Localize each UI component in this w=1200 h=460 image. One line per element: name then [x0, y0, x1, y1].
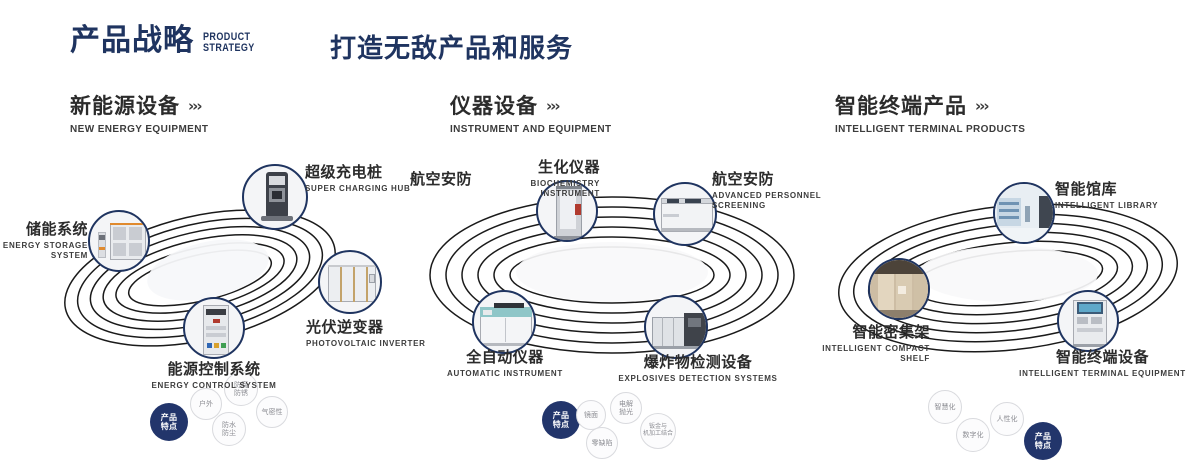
label-energy-control-system: 能源控制系统 ENERGY CONTROL SYSTEM [84, 362, 344, 391]
section-title-en: INTELLIGENT TERMINAL PRODUCTS [835, 124, 1025, 135]
section-title-cn-text: 新能源设备 [70, 94, 180, 118]
page-title-cn: 产品战略 [70, 26, 194, 56]
diagram-new-energy: 产品 特点 户外 防腐 防锈 防水 防尘 气密性 [0, 150, 400, 420]
chevron-right-icon: ››› [975, 99, 988, 114]
feature-line1: 防水 [222, 421, 236, 429]
feature-bubble: 防水 防尘 [212, 412, 246, 446]
label-en-line1: INTELLIGENT TERMINAL EQUIPMENT [1005, 369, 1200, 379]
control-system-photo [185, 299, 243, 357]
label-cn: 储能系统 [0, 222, 88, 238]
feature-line1: 气密性 [262, 408, 283, 416]
feature-line1: 电解 [619, 400, 633, 408]
node-energy-storage[interactable] [88, 210, 150, 272]
core-badge-line1: 产品 [1035, 432, 1052, 441]
section-title-intelligent-terminal: 智能终端产品››› INTELLIGENT TERMINAL PRODUCTS [835, 96, 1025, 135]
feature-bubble: 气密性 [256, 396, 288, 428]
label-en: ENERGY STORAGE SYSTEM [0, 241, 88, 261]
label-en: ENERGY CONTROL SYSTEM [84, 381, 344, 391]
feature-bubble: 零缺陷 [586, 427, 618, 459]
label-en-line1: SUPER CHARGING HUB [305, 184, 411, 194]
feature-line1: 数字化 [963, 431, 984, 439]
label-en-line2: SCREENING [712, 201, 821, 211]
section-title-en: INSTRUMENT AND EQUIPMENT [450, 124, 611, 135]
slide-canvas: 产品战略 PRODUCT STRATEGY 打造无敌产品和服务 新能源设备›››… [0, 0, 1200, 422]
feature-line2: 防尘 [222, 429, 236, 437]
label-intelligent-library: 智能馆库 INTELLIGENT LIBRARY [1055, 182, 1158, 211]
label-en: INTELLIGENT COMPACT SHELF [800, 344, 930, 364]
explosives-detection-photo [646, 297, 706, 357]
page-title: 产品战略 PRODUCT STRATEGY [70, 26, 266, 56]
section-title-cn-text: 智能终端产品 [835, 94, 967, 118]
feature-bubble: 智慧化 [928, 390, 962, 424]
feature-line2: 抛光 [619, 408, 633, 416]
label-explosives-detection: 爆炸物检测设备 EXPLOSIVES DETECTION SYSTEMS [578, 355, 818, 384]
node-advanced-personnel-screening[interactable] [653, 182, 717, 246]
label-en-line1: ENERGY CONTROL SYSTEM [84, 381, 344, 391]
section-title-cn: 新能源设备››› [70, 96, 208, 117]
label-en: EXPLOSIVES DETECTION SYSTEMS [578, 374, 818, 384]
diagram-intelligent-terminal: 智慧化 数字化 人性化 产品 特点 智能馆库 [810, 150, 1200, 420]
label-cn: 航空安防 [410, 172, 472, 188]
label-super-charging-hub: 超级充电桩 SUPER CHARGING HUB [305, 165, 411, 194]
core-badge-line1: 产品 [553, 411, 570, 420]
feature-line1: 智慧化 [935, 403, 956, 411]
section-title-instrument: 仪器设备››› INSTRUMENT AND EQUIPMENT [450, 96, 611, 135]
label-en-line1: ENERGY STORAGE [0, 241, 88, 251]
label-en-line1: EXPLOSIVES DETECTION SYSTEMS [578, 374, 818, 384]
charging-hub-photo [244, 166, 306, 228]
label-cn: 智能馆库 [1055, 182, 1158, 198]
feature-line1: 零缺陷 [592, 439, 613, 447]
page-title-en: PRODUCT STRATEGY [203, 32, 255, 54]
label-en-line1: INTELLIGENT COMPACT [800, 344, 930, 354]
feature-bubble: 镜面 [576, 400, 606, 430]
page-subtitle: 打造无敌产品和服务 [330, 36, 573, 62]
core-badge-line1: 产品 [161, 413, 178, 422]
page-title-en-line2: STRATEGY [203, 43, 255, 54]
chevron-right-icon: ››› [546, 99, 559, 114]
label-energy-storage: 储能系统 ENERGY STORAGE SYSTEM [0, 222, 88, 261]
library-photo [995, 184, 1053, 242]
label-cn: 爆炸物检测设备 [578, 355, 818, 371]
section-title-cn: 仪器设备››› [450, 96, 611, 117]
feature-line1: 户外 [199, 400, 213, 408]
label-en: SUPER CHARGING HUB [305, 184, 411, 194]
core-badge: 产品 特点 [1024, 422, 1062, 460]
label-en-line2: SYSTEM [0, 251, 88, 261]
chevron-right-icon: ››› [188, 99, 201, 114]
label-aviation-security-left: 航空安防 [410, 172, 472, 188]
feature-line1: 钣金与 [649, 424, 667, 431]
node-intelligent-terminal-equipment[interactable] [1057, 290, 1119, 352]
feature-bubble: 电解 抛光 [610, 392, 642, 424]
label-advanced-personnel-screening: 航空安防 ADVANCED PERSONNEL SCREENING [712, 172, 821, 211]
energy-storage-photo [90, 212, 148, 270]
label-en: ADVANCED PERSONNEL SCREENING [712, 191, 821, 211]
feature-bubble: 钣金与 机加工结合 [640, 413, 676, 449]
automatic-instrument-photo [474, 292, 534, 352]
label-en-line1: ADVANCED PERSONNEL [712, 191, 821, 201]
inverter-photo [320, 252, 380, 312]
node-photovoltaic-inverter[interactable] [318, 250, 382, 314]
label-en-line2: INSTRUMENT [400, 189, 600, 199]
terminal-equipment-photo [1059, 292, 1117, 350]
label-cn: 航空安防 [712, 172, 821, 188]
label-cn: 能源控制系统 [84, 362, 344, 378]
node-intelligent-library[interactable] [993, 182, 1055, 244]
label-en: INTELLIGENT TERMINAL EQUIPMENT [1005, 369, 1200, 379]
label-intelligent-compact-shelf: 智能密集架 INTELLIGENT COMPACT SHELF [800, 325, 930, 364]
node-explosives-detection[interactable] [644, 295, 708, 359]
node-super-charging-hub[interactable] [242, 164, 308, 230]
core-badge-line2: 特点 [161, 422, 178, 431]
label-cn: 智能终端设备 [1005, 350, 1200, 366]
core-badge: 产品 特点 [542, 401, 580, 439]
core-badge-line2: 特点 [553, 420, 570, 429]
feature-bubble: 数字化 [956, 418, 990, 452]
label-en: INTELLIGENT LIBRARY [1055, 201, 1158, 211]
feature-line2: 机加工结合 [643, 431, 673, 438]
section-title-en: NEW ENERGY EQUIPMENT [70, 124, 208, 135]
node-automatic-instrument[interactable] [472, 290, 536, 354]
label-cn: 超级充电桩 [305, 165, 411, 181]
diagram-instrument: 产品 特点 镜面 电解 抛光 零缺陷 钣金与 机加工结合 [400, 150, 820, 420]
node-energy-control-system[interactable] [183, 297, 245, 359]
core-badge-line2: 特点 [1035, 441, 1052, 450]
label-intelligent-terminal-equipment: 智能终端设备 INTELLIGENT TERMINAL EQUIPMENT [1005, 350, 1200, 379]
label-en-line2: SHELF [800, 354, 930, 364]
label-cn: 智能密集架 [800, 325, 930, 341]
compact-shelf-photo [870, 260, 928, 318]
node-intelligent-compact-shelf[interactable] [868, 258, 930, 320]
screening-photo [655, 184, 715, 244]
feature-bubble: 人性化 [990, 402, 1024, 436]
section-title-cn-text: 仪器设备 [450, 94, 538, 118]
feature-line1: 镜面 [584, 411, 598, 419]
core-badge: 产品 特点 [150, 403, 188, 441]
section-title-new-energy: 新能源设备››› NEW ENERGY EQUIPMENT [70, 96, 208, 135]
label-en-line1: INTELLIGENT LIBRARY [1055, 201, 1158, 211]
section-title-cn: 智能终端产品››› [835, 96, 1025, 117]
